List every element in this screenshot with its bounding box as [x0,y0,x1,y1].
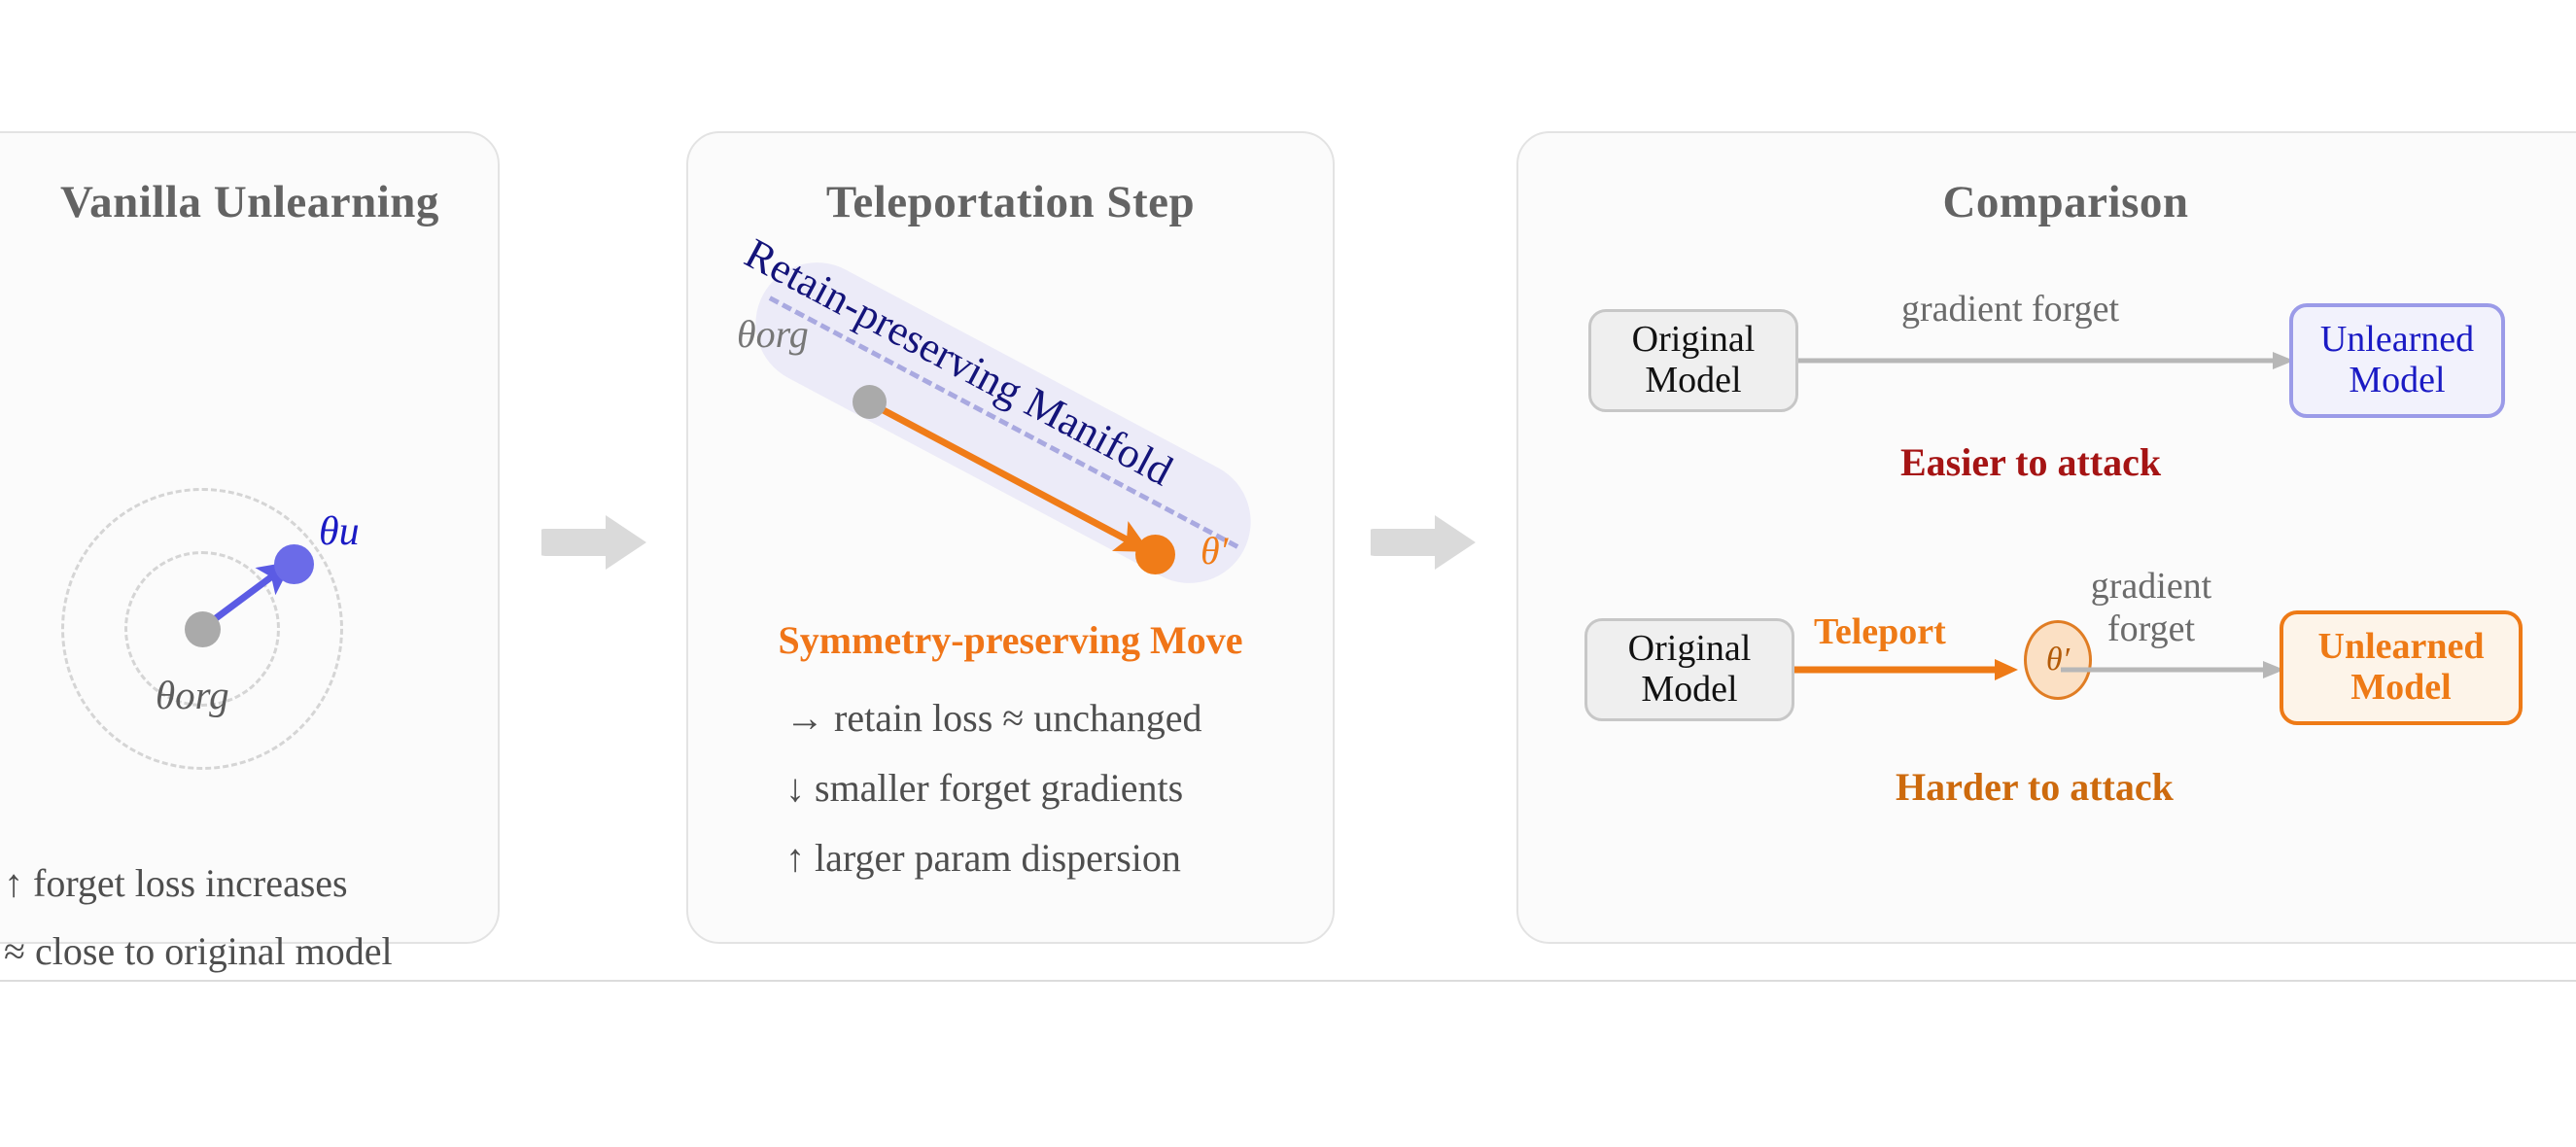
box-original-model-bottom-line2: Model [1641,670,1737,711]
box-original-model-top-line1: Original [1632,320,1756,361]
vanilla-note-forget-loss: ↑ forget loss increases [4,860,348,906]
arrow-teleport-icon [1794,657,2020,682]
panel-vanilla-unlearning: Vanilla Unlearning θu θorg ↑ forget loss… [0,131,500,944]
arrow-gradient-forget-top-icon [1798,348,2296,373]
figure-canvas: Vanilla Unlearning θu θorg ↑ forget loss… [0,0,2576,1147]
caption-teleport: Teleport [1814,610,1946,653]
vanilla-update-arrow-icon [0,133,502,946]
box-original-model-top-line2: Model [1645,361,1741,401]
panel-title-teleport: Teleportation Step [688,176,1333,228]
teleport-note-retain-loss: → retain loss ≈ unchanged [785,695,1202,741]
box-unlearned-model-bottom-line1: Unlearned [2318,627,2485,668]
vanilla-note-close-to-original: ≈ close to original model [4,928,393,974]
box-original-model-top: Original Model [1588,309,1798,412]
caption-gradient-forget-top: gradient forget [1901,288,2119,330]
caption-gradient-forget-bottom: gradient forget [2059,566,2244,650]
panel-comparison: Comparison [1516,131,2576,944]
box-original-model-bottom-line1: Original [1628,629,1752,670]
teleport-destination-dot-icon [1135,535,1175,574]
page-divider [0,980,2576,982]
teleport-note-param-dispersion: ↑ larger param dispersion [785,835,1181,881]
box-unlearned-model-bottom-line2: Model [2350,668,2451,709]
caption-gradient-forget-bottom-line1: gradient [2059,566,2244,608]
label-theta-org-vanilla: θorg [156,672,229,718]
block-arrow-right-icon-1 [541,509,650,575]
unlearned-dot-icon [274,544,314,584]
box-unlearned-model-top-line2: Model [2349,361,2445,401]
panel-title-comparison: Comparison [1518,176,2576,228]
teleport-origin-dot-icon [853,385,887,419]
arrow-gradient-forget-bottom-icon [2061,657,2286,682]
teleport-note-forget-gradients: ↓ smaller forget gradients [785,765,1183,811]
label-theta-u: θu [319,508,360,555]
caption-gradient-forget-bottom-line2: forget [2059,608,2244,651]
verdict-harder-to-attack: Harder to attack [1896,764,2174,810]
box-unlearned-model-top-line1: Unlearned [2320,320,2474,361]
box-original-model-bottom: Original Model [1584,618,1794,721]
label-theta-prime-manifold: θ′ [1201,528,1228,573]
origin-dot-icon [185,611,221,647]
teleport-subtitle: Symmetry-preserving Move [688,617,1333,663]
label-theta-org-teleport: θorg [737,311,809,357]
block-arrow-right-icon-2 [1371,509,1479,575]
box-unlearned-model-top: Unlearned Model [2289,303,2505,418]
verdict-easier-to-attack: Easier to attack [1900,439,2161,485]
box-unlearned-model-bottom: Unlearned Model [2280,610,2523,725]
